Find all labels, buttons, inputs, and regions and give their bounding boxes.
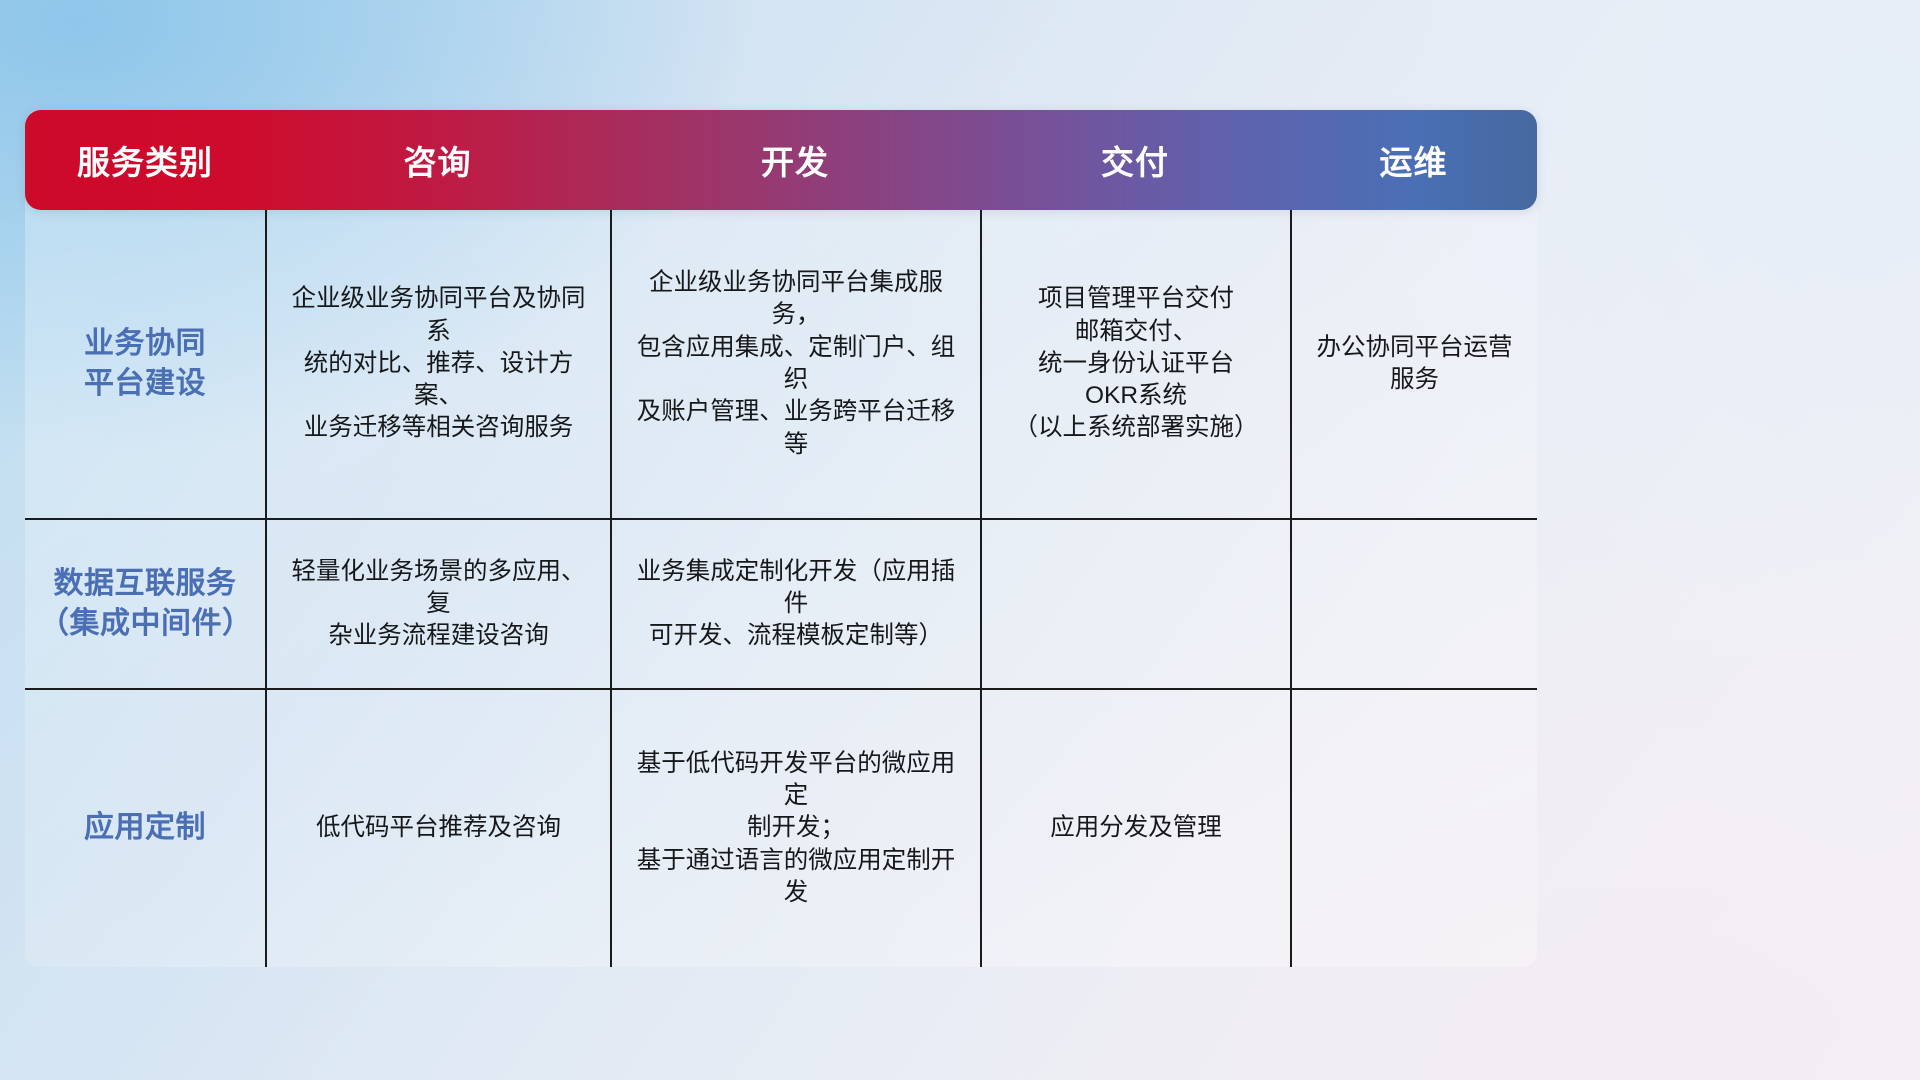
cell-delivery-r0: 项目管理平台交付邮箱交付、统一身份认证平台OKR系统（以上系统部署实施） — [980, 210, 1290, 518]
column-header-consulting: 咨询 — [265, 136, 610, 184]
cell-text: 低代码平台推荐及咨询 — [316, 812, 561, 844]
cell-operations-r0: 办公协同平台运营服务 — [1290, 210, 1537, 518]
cell-delivery-r1 — [980, 520, 1290, 688]
cell-consulting-r1: 轻量化业务场景的多应用、复杂业务流程建设咨询 — [265, 520, 610, 688]
table-row: 应用定制 低代码平台推荐及咨询 基于低代码开发平台的微应用定制开发；基于通过语言… — [25, 688, 1537, 967]
cell-text: 企业级业务协同平台及协同系统的对比、推荐、设计方案、业务迁移等相关咨询服务 — [281, 283, 596, 445]
table-body: 业务协同平台建设 企业级业务协同平台及协同系统的对比、推荐、设计方案、业务迁移等… — [25, 210, 1537, 967]
row-label-text: 应用定制 — [84, 808, 206, 848]
cell-consulting-r2: 低代码平台推荐及咨询 — [265, 690, 610, 967]
column-header-delivery: 交付 — [980, 136, 1290, 184]
row-label-text: 业务协同平台建设 — [84, 324, 206, 404]
cell-operations-r2 — [1290, 690, 1537, 967]
row-label-business-collaboration: 业务协同平台建设 — [25, 210, 265, 518]
row-label-application-customization: 应用定制 — [25, 690, 265, 967]
row-label-data-interconnect: 数据互联服务（集成中间件） — [25, 520, 265, 688]
cell-text: 应用分发及管理 — [1050, 812, 1222, 844]
column-header-development: 开发 — [610, 136, 980, 184]
column-header-service-category: 服务类别 — [25, 136, 265, 184]
cell-operations-r1 — [1290, 520, 1537, 688]
cell-text: 办公协同平台运营服务 — [1306, 332, 1523, 397]
cell-development-r0: 企业级业务协同平台集成服务，包含应用集成、定制门户、组织及账户管理、业务跨平台迁… — [610, 210, 980, 518]
table-row: 业务协同平台建设 企业级业务协同平台及协同系统的对比、推荐、设计方案、业务迁移等… — [25, 210, 1537, 518]
cell-consulting-r0: 企业级业务协同平台及协同系统的对比、推荐、设计方案、业务迁移等相关咨询服务 — [265, 210, 610, 518]
cell-development-r2: 基于低代码开发平台的微应用定制开发；基于通过语言的微应用定制开发 — [610, 690, 980, 967]
cell-text: 轻量化业务场景的多应用、复杂业务流程建设咨询 — [281, 556, 596, 653]
cell-text: 业务集成定制化开发（应用插件可开发、流程模板定制等） — [626, 556, 966, 653]
cell-development-r1: 业务集成定制化开发（应用插件可开发、流程模板定制等） — [610, 520, 980, 688]
cell-text: 基于低代码开发平台的微应用定制开发；基于通过语言的微应用定制开发 — [626, 748, 966, 910]
cell-text: 企业级业务协同平台集成服务，包含应用集成、定制门户、组织及账户管理、业务跨平台迁… — [626, 267, 966, 461]
table-header-row: 服务类别 咨询 开发 交付 运维 — [25, 110, 1537, 210]
slide-canvas: 服务类别 咨询 开发 交付 运维 业务协同平台建设 企业级业务协同平台及协同系统… — [0, 0, 1920, 1080]
cell-text: 项目管理平台交付邮箱交付、统一身份认证平台OKR系统（以上系统部署实施） — [1014, 283, 1259, 445]
column-header-operations: 运维 — [1290, 136, 1537, 184]
row-label-text: 数据互联服务（集成中间件） — [39, 564, 251, 644]
table-row: 数据互联服务（集成中间件） 轻量化业务场景的多应用、复杂业务流程建设咨询 业务集… — [25, 518, 1537, 688]
cell-delivery-r2: 应用分发及管理 — [980, 690, 1290, 967]
